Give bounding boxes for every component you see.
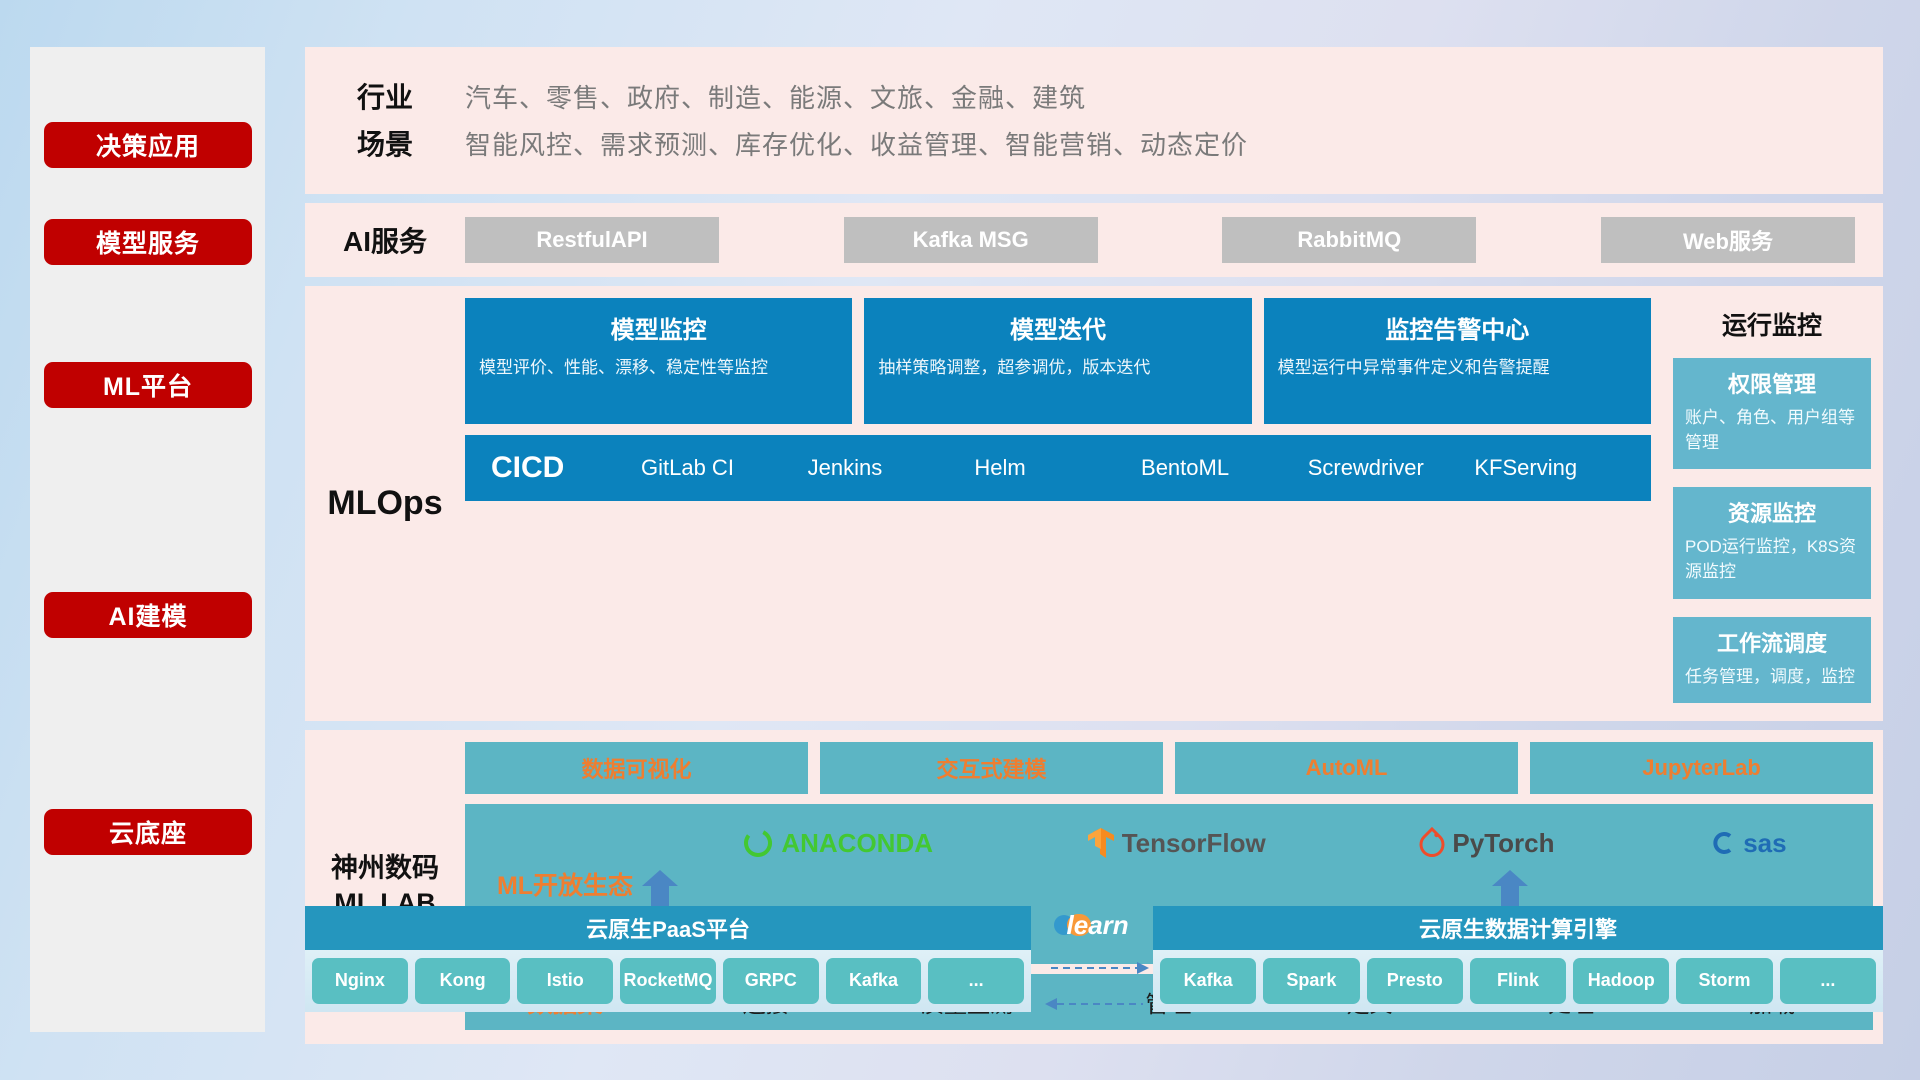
cloud-paas-block: 云原生PaaS平台 Nginx Kong Istio RocketMQ GRPC… [305,906,1031,1012]
mlops-cards: 模型监控 模型评价、性能、漂移、稳定性等监控 模型迭代 抽样策略调整，超参调优，… [465,298,1651,424]
monitor-card[interactable]: 工作流调度 任务管理，调度，监控 [1673,617,1871,704]
ai-service-band: AI服务 RestfulAPI Kafka MSG RabbitMQ Web服务 [305,203,1883,277]
stack-layer-rail: 决策应用 模型服务 ML平台 AI建模 云底座 [30,47,265,1032]
bidirectional-dashed-link [1045,958,1149,1014]
rail-pill-label: AI建模 [108,597,187,633]
ai-service-chip[interactable]: RabbitMQ [1222,217,1476,263]
monitor-card-desc: 账户、角色、用户组等管理 [1685,406,1859,455]
cloud-chip[interactable]: Hadoop [1573,958,1669,1004]
monitor-column: 运行监控 权限管理 账户、角色、用户组等管理 资源监控 POD运行监控，K8S资… [1661,286,1883,721]
scenario-value: 智能风控、需求预测、库存优化、收益管理、智能营销、动态定价 [465,125,1248,162]
ml-tool-chip[interactable]: 数据可视化 [465,742,808,794]
mlops-card-title: 监控告警中心 [1278,310,1637,345]
rail-pill-label: ML平台 [103,367,193,403]
cicd-item[interactable]: BentoML [1141,456,1308,480]
cicd-bar: CICD GitLab CI Jenkins Helm BentoML Scre… [465,435,1651,501]
anaconda-logo-text: ANACONDA [781,828,933,859]
cloud-paas-chips: Nginx Kong Istio RocketMQ GRPC Kafka ... [305,950,1031,1012]
rail-pill-label: 模型服务 [96,224,200,260]
sas-logo: sas [1707,828,1786,859]
cloud-chip-more[interactable]: ... [1780,958,1876,1004]
industry-key: 行业 [305,76,465,116]
mlops-card-title: 模型监控 [479,310,838,345]
cicd-item[interactable]: Helm [974,456,1141,480]
ml-tool-chip[interactable]: JupyterLab [1530,742,1873,794]
mlops-band: MLOps 模型监控 模型评价、性能、漂移、稳定性等监控 模型迭代 抽样策略调整… [305,286,1883,721]
up-arrow-icon-right [1490,870,1530,906]
cicd-item[interactable]: Screwdriver [1308,456,1475,480]
rail-pill-label: 决策应用 [96,127,200,163]
mlops-card[interactable]: 模型监控 模型评价、性能、漂移、稳定性等监控 [465,298,852,424]
mlops-card-desc: 模型评价、性能、漂移、稳定性等监控 [479,355,838,381]
industry-value: 汽车、零售、政府、制造、能源、文旅、金融、建筑 [465,78,1086,115]
tensorflow-logo: TensorFlow [1086,826,1266,860]
cloud-data-engine-chips: Kafka Spark Presto Flink Hadoop Storm ..… [1153,950,1883,1012]
cloud-chip[interactable]: Flink [1470,958,1566,1004]
rail-pill-label: 云底座 [109,814,187,850]
ai-service-chip[interactable]: Kafka MSG [844,217,1098,263]
cloud-chip[interactable]: Storm [1676,958,1772,1004]
ai-service-chips: RestfulAPI Kafka MSG RabbitMQ Web服务 [465,217,1863,263]
cloud-chip[interactable]: Nginx [312,958,408,1004]
cloud-chip[interactable]: Spark [1263,958,1359,1004]
monitor-title: 运行监控 [1673,306,1871,342]
mlops-card-desc: 模型运行中异常事件定义和告警提醒 [1278,355,1637,381]
cicd-items: GitLab CI Jenkins Helm BentoML Screwdriv… [641,456,1641,480]
cloud-paas-title: 云原生PaaS平台 [305,906,1031,950]
mlops-key: MLOps [305,298,465,709]
cloud-chip[interactable]: Kafka [826,958,922,1004]
cloud-data-engine-title: 云原生数据计算引擎 [1153,906,1883,950]
rail-pill-4[interactable]: 云底座 [44,809,252,855]
cicd-title: CICD [491,451,641,485]
monitor-card-desc: POD运行监控，K8S资源监控 [1685,535,1859,584]
mlops-card-desc: 抽样策略调整，超参调优，版本迭代 [878,355,1237,381]
rail-pill-0[interactable]: 决策应用 [44,122,252,168]
ml-tool-row: 数据可视化 交互式建模 AutoML JupyterLab [465,742,1873,794]
pytorch-logo-text: PyTorch [1452,828,1554,859]
cloud-chip[interactable]: Kong [415,958,511,1004]
mlops-card[interactable]: 监控告警中心 模型运行中异常事件定义和告警提醒 [1264,298,1651,424]
cloud-data-engine-block: 云原生数据计算引擎 Kafka Spark Presto Flink Hadoo… [1153,906,1883,1012]
cloud-chip[interactable]: Istio [517,958,613,1004]
up-arrow-icon-left [640,870,680,906]
scenario-key: 场景 [305,123,465,163]
cloud-chip-more[interactable]: ... [928,958,1024,1004]
sas-logo-text: sas [1743,828,1786,859]
cicd-item[interactable]: GitLab CI [641,456,808,480]
mlops-left: MLOps 模型监控 模型评价、性能、漂移、稳定性等监控 模型迭代 抽样策略调整… [305,286,1661,721]
tensorflow-logo-text: TensorFlow [1122,828,1266,859]
scenario-row: 场景 智能风控、需求预测、库存优化、收益管理、智能营销、动态定价 [305,123,1883,163]
ai-service-chip[interactable]: RestfulAPI [465,217,719,263]
cloud-chip[interactable]: RocketMQ [620,958,716,1004]
rail-pill-2[interactable]: ML平台 [44,362,252,408]
monitor-card-title: 权限管理 [1685,367,1859,399]
monitor-card-title: 资源监控 [1685,496,1859,528]
cloud-chip[interactable]: Kafka [1160,958,1256,1004]
cloud-chip[interactable]: Presto [1367,958,1463,1004]
industry-scenario-band: 行业 汽车、零售、政府、制造、能源、文旅、金融、建筑 场景 智能风控、需求预测、… [305,47,1883,194]
pytorch-logo: PyTorch [1418,827,1554,859]
monitor-card[interactable]: 权限管理 账户、角色、用户组等管理 [1673,358,1871,469]
anaconda-logo: ANACONDA [741,826,933,860]
ai-service-chip[interactable]: Web服务 [1601,217,1855,263]
mlops-card-title: 模型迭代 [878,310,1237,345]
cloud-foundation-section: 云原生PaaS平台 Nginx Kong Istio RocketMQ GRPC… [305,870,1883,1035]
rail-pill-1[interactable]: 模型服务 [44,219,252,265]
monitor-card-title: 工作流调度 [1685,626,1859,658]
ml-tool-chip[interactable]: 交互式建模 [820,742,1163,794]
monitor-card[interactable]: 资源监控 POD运行监控，K8S资源监控 [1673,487,1871,598]
cicd-item[interactable]: Jenkins [808,456,975,480]
cicd-item[interactable]: KFServing [1474,456,1641,480]
ai-service-key: AI服务 [305,220,465,260]
rail-pill-3[interactable]: AI建模 [44,592,252,638]
ml-tool-chip[interactable]: AutoML [1175,742,1518,794]
cloud-chip[interactable]: GRPC [723,958,819,1004]
mlops-body: 模型监控 模型评价、性能、漂移、稳定性等监控 模型迭代 抽样策略调整，超参调优，… [465,298,1661,709]
monitor-card-desc: 任务管理，调度，监控 [1685,665,1859,690]
industry-row: 行业 汽车、零售、政府、制造、能源、文旅、金融、建筑 [305,76,1883,116]
mlops-card[interactable]: 模型迭代 抽样策略调整，超参调优，版本迭代 [864,298,1251,424]
